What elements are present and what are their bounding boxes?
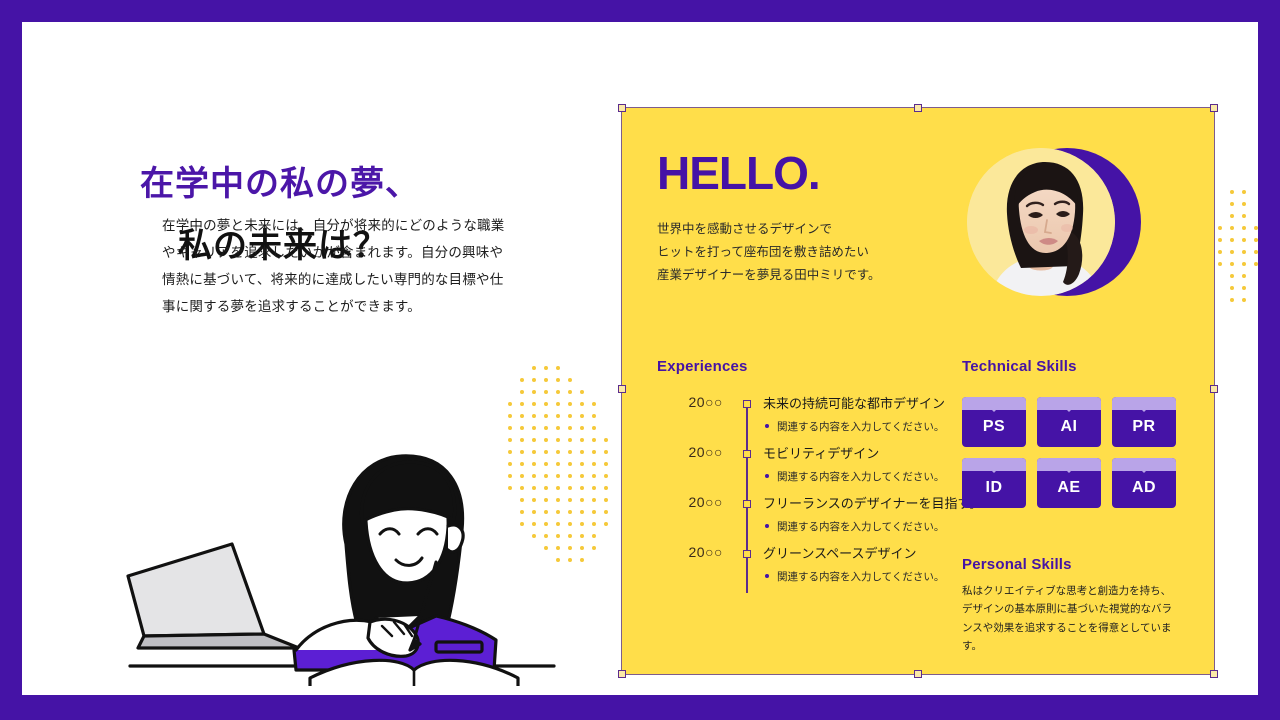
dot (1218, 214, 1222, 218)
dot (568, 462, 572, 466)
dot (556, 378, 560, 382)
skill-tile-label: PR (1132, 418, 1155, 436)
dot (568, 366, 572, 370)
dot (1230, 286, 1234, 290)
dot-grid-row (1218, 226, 1258, 238)
dot (1218, 298, 1222, 302)
dot (1254, 178, 1258, 182)
dot (580, 546, 584, 550)
dot (592, 390, 596, 394)
timeline-item[interactable]: 20○○ 未来の持続可能な都市デザイン 関連する内容を入力してください。 (657, 397, 937, 447)
dot-grid-row (1218, 274, 1258, 286)
dot (604, 402, 608, 406)
skill-tile-ad[interactable]: AD (1112, 458, 1176, 508)
personal-skills-title: Personal Skills (962, 556, 1177, 573)
dot (604, 534, 608, 538)
dot-grid-row (1218, 238, 1258, 250)
slide-frame: 在学中の私の夢、 私の未来は？ 在学中の夢と未来には、自分が将来的にどのような職… (0, 0, 1280, 720)
dot (1230, 262, 1234, 266)
dot (1218, 250, 1222, 254)
dot (508, 414, 512, 418)
dot (604, 378, 608, 382)
dot (1218, 190, 1222, 194)
dot (568, 486, 572, 490)
dot (592, 510, 596, 514)
dot-grid-row (1218, 202, 1258, 214)
dot-grid-row (1218, 262, 1258, 274)
dot (604, 450, 608, 454)
dot (592, 378, 596, 382)
student-illustration[interactable] (114, 426, 564, 686)
dot (604, 462, 608, 466)
dot (1254, 310, 1258, 314)
dot (544, 390, 548, 394)
timeline-bullet: 関連する内容を入力してください。 (763, 519, 973, 534)
resize-handle-bottom-right[interactable] (1210, 670, 1218, 678)
dot (1242, 178, 1246, 182)
skill-tile-ai[interactable]: AI (1037, 397, 1101, 447)
dot (580, 498, 584, 502)
portrait[interactable] (959, 140, 1149, 340)
skill-tile-notch-icon (1140, 469, 1148, 473)
dot (580, 462, 584, 466)
dot (568, 402, 572, 406)
dot (580, 426, 584, 430)
resize-handle-bottom-center[interactable] (914, 670, 922, 678)
dot (544, 414, 548, 418)
dot (1242, 238, 1246, 242)
skill-tile-label: ID (986, 479, 1003, 497)
dot (604, 546, 608, 550)
dot (568, 510, 572, 514)
dot (604, 486, 608, 490)
dot (568, 474, 572, 478)
timeline-item[interactable]: 20○○ モビリティデザイン 関連する内容を入力してください。 (657, 447, 937, 497)
dot (568, 558, 572, 562)
dot (1230, 298, 1234, 302)
skill-tile-ae[interactable]: AE (1037, 458, 1101, 508)
technical-skills-section[interactable]: Technical Skills PS AI (962, 358, 1182, 508)
dot (1242, 262, 1246, 266)
dot (604, 438, 608, 442)
dot-grid-row (508, 366, 616, 378)
dot (604, 414, 608, 418)
dot (580, 510, 584, 514)
timeline-body: グリーンスペースデザイン 関連する内容を入力してください。 (763, 543, 973, 584)
dot (592, 426, 596, 430)
dot (604, 522, 608, 526)
dot (592, 546, 596, 550)
dot (1218, 286, 1222, 290)
hello-title: HELLO. (657, 150, 881, 196)
dot-grid-row (1218, 214, 1258, 226)
hello-block[interactable]: HELLO. 世界中を感動させるデザインで ヒットを打って座布団を敷き詰めたい … (657, 150, 881, 287)
dot (1242, 250, 1246, 254)
dot (580, 486, 584, 490)
lead-paragraph: 在学中の夢と未来には、自分が将来的にどのような職業やキャリアを追求したいかが含ま… (162, 212, 512, 320)
dot (592, 366, 596, 370)
dot (1254, 298, 1258, 302)
dot (568, 450, 572, 454)
dot (556, 390, 560, 394)
technical-skills-tiles[interactable]: PS AI PR (962, 397, 1182, 508)
dot (568, 426, 572, 430)
dot (508, 402, 512, 406)
resume-card-selection[interactable]: HELLO. 世界中を感動させるデザインで ヒットを打って座布団を敷き詰めたい … (622, 108, 1214, 674)
dot (532, 366, 536, 370)
dot-grid-row (508, 414, 616, 426)
dot (1218, 238, 1222, 242)
student-illustration-svg (114, 426, 564, 686)
dot (1230, 250, 1234, 254)
dot (1254, 262, 1258, 266)
dot (568, 378, 572, 382)
personal-skills-body: 私はクリエイティブな思考と創造力を持ち、デザインの基本原則に基づいた視覚的なバラ… (962, 582, 1177, 656)
portrait-photo-disc (967, 148, 1115, 296)
dot (592, 462, 596, 466)
skill-tile-label: AI (1061, 418, 1078, 436)
dot (604, 426, 608, 430)
skill-tile-notch-icon (1065, 469, 1073, 473)
dot (592, 438, 596, 442)
skill-tile-label: PS (983, 418, 1005, 436)
timeline-year: 20○○ (653, 544, 723, 560)
timeline-marker-icon (743, 550, 751, 558)
timeline-headline: フリーランスのデザイナーを目指す。 (763, 493, 973, 512)
timeline-headline: 未来の持続可能な都市デザイン (763, 393, 973, 412)
dot (580, 378, 584, 382)
dot (520, 390, 524, 394)
dot (580, 438, 584, 442)
dot (1230, 274, 1234, 278)
timeline-marker-icon (743, 400, 751, 408)
dot (604, 510, 608, 514)
skill-tile-notch-icon (1065, 408, 1073, 412)
timeline-body: 未来の持続可能な都市デザイン 関連する内容を入力してください。 (763, 393, 973, 434)
dot (532, 390, 536, 394)
dot (544, 378, 548, 382)
portrait-photo (967, 148, 1115, 296)
experiences-title: Experiences (657, 358, 937, 375)
dot (592, 534, 596, 538)
dot (1242, 226, 1246, 230)
timeline-bullet: 関連する内容を入力してください。 (763, 569, 973, 584)
dot (1218, 226, 1222, 230)
resize-handle-middle-left[interactable] (618, 385, 626, 393)
skill-tile-notch-icon (1140, 408, 1148, 412)
dot (532, 402, 536, 406)
dot (532, 378, 536, 382)
dot (1254, 286, 1258, 290)
dot (592, 558, 596, 562)
dot (580, 522, 584, 526)
dot-grid-row (1218, 250, 1258, 262)
dot (568, 438, 572, 442)
technical-skills-title: Technical Skills (962, 358, 1182, 375)
dot-grid-row (508, 378, 616, 390)
dot (604, 366, 608, 370)
slide-canvas[interactable]: 在学中の私の夢、 私の未来は？ 在学中の夢と未来には、自分が将来的にどのような職… (22, 22, 1258, 695)
timeline-item[interactable]: 20○○ フリーランスのデザイナーを目指す。 関連する内容を入力してください。 (657, 497, 937, 547)
dot (580, 414, 584, 418)
dot (544, 366, 548, 370)
dot (568, 534, 572, 538)
skill-tile-id[interactable]: ID (962, 458, 1026, 508)
dot (1242, 286, 1246, 290)
dot (1254, 238, 1258, 242)
dot (1242, 214, 1246, 218)
dot (1230, 226, 1234, 230)
dot (1218, 310, 1222, 314)
dot (1254, 202, 1258, 206)
dot (556, 414, 560, 418)
dot (592, 414, 596, 418)
resume-card-panel[interactable]: HELLO. 世界中を感動させるデザインで ヒットを打って座布団を敷き詰めたい … (622, 108, 1214, 674)
dot-grid-row (1218, 286, 1258, 298)
dot-grid-row (508, 402, 616, 414)
dot (568, 546, 572, 550)
dot (1218, 262, 1222, 266)
timeline-body: フリーランスのデザイナーを目指す。 関連する内容を入力してください。 (763, 493, 973, 534)
dot (592, 498, 596, 502)
timeline-marker-icon (743, 450, 751, 458)
dot (580, 534, 584, 538)
dot (1242, 310, 1246, 314)
dot-grid-row (1218, 190, 1258, 202)
dot (1230, 178, 1234, 182)
dot (568, 414, 572, 418)
dot (580, 450, 584, 454)
hello-subtitle: 世界中を感動させるデザインで ヒットを打って座布団を敷き詰めたい 産業デザイナー… (657, 218, 881, 287)
dot (1230, 202, 1234, 206)
dot (604, 558, 608, 562)
dot (1254, 214, 1258, 218)
dot (604, 390, 608, 394)
dot (520, 378, 524, 382)
skill-tile-notch-icon (990, 469, 998, 473)
skill-tile-label: AE (1057, 479, 1080, 497)
page-title-line-1: 在学中の私の夢、 (140, 162, 540, 208)
dot (580, 390, 584, 394)
dot (580, 558, 584, 562)
dot (568, 522, 572, 526)
dot (1230, 238, 1234, 242)
personal-skills-section[interactable]: Personal Skills 私はクリエイティブな思考と創造力を持ち、デザイン… (962, 556, 1177, 656)
resize-handle-top-center[interactable] (914, 104, 922, 112)
dot (1242, 190, 1246, 194)
dot (592, 474, 596, 478)
dot (1254, 226, 1258, 230)
dot (580, 474, 584, 478)
dot (544, 402, 548, 406)
resize-handle-top-left[interactable] (618, 104, 626, 112)
timeline-bullet: 関連する内容を入力してください。 (763, 469, 973, 484)
resize-handle-top-right[interactable] (1210, 104, 1218, 112)
dot (520, 414, 524, 418)
dot (1218, 274, 1222, 278)
dot (568, 498, 572, 502)
resize-handle-middle-right[interactable] (1210, 385, 1218, 393)
dot (1218, 178, 1222, 182)
skill-tile-label: AD (1132, 479, 1156, 497)
dot (1218, 202, 1222, 206)
dot-grid-row (1218, 178, 1258, 190)
dot (592, 522, 596, 526)
experiences-timeline[interactable]: 20○○ 未来の持続可能な都市デザイン 関連する内容を入力してください。 20○… (657, 397, 937, 597)
resize-handle-bottom-left[interactable] (618, 670, 626, 678)
timeline-marker-icon (743, 500, 751, 508)
skill-tile-ps[interactable]: PS (962, 397, 1026, 447)
timeline-year: 20○○ (653, 394, 723, 410)
dot (508, 366, 512, 370)
dot (592, 486, 596, 490)
dot (592, 402, 596, 406)
timeline-year: 20○○ (653, 444, 723, 460)
dot (556, 366, 560, 370)
experiences-section[interactable]: Experiences 20○○ 未来の持続可能な都市デザイン 関連する内容を入… (657, 358, 937, 597)
dot (1242, 202, 1246, 206)
dot (1242, 274, 1246, 278)
dot-grid-row (1218, 310, 1258, 322)
skill-tile-notch-icon (990, 408, 998, 412)
dot (1254, 250, 1258, 254)
dot (508, 390, 512, 394)
dot (604, 474, 608, 478)
dot (580, 366, 584, 370)
dot-grid-row (508, 390, 616, 402)
timeline-bullet: 関連する内容を入力してください。 (763, 419, 973, 434)
dot (1230, 310, 1234, 314)
timeline-year: 20○○ (653, 494, 723, 510)
timeline-body: モビリティデザイン 関連する内容を入力してください。 (763, 443, 973, 484)
timeline-headline: モビリティデザイン (763, 443, 973, 462)
timeline-item[interactable]: 20○○ グリーンスペースデザイン 関連する内容を入力してください。 (657, 547, 937, 597)
skill-tile-pr[interactable]: PR (1112, 397, 1176, 447)
dot (532, 414, 536, 418)
dot-grid-row (1218, 298, 1258, 310)
dot (556, 402, 560, 406)
dot (580, 402, 584, 406)
timeline-headline: グリーンスペースデザイン (763, 543, 973, 562)
dot (1242, 298, 1246, 302)
dot (568, 390, 572, 394)
dot-grid-right-decoration (1218, 178, 1258, 322)
dot (520, 366, 524, 370)
dot (1254, 190, 1258, 194)
dot (592, 450, 596, 454)
dot (604, 498, 608, 502)
dot (520, 402, 524, 406)
dot (1230, 190, 1234, 194)
dot (1254, 274, 1258, 278)
dot (1230, 214, 1234, 218)
dot (508, 378, 512, 382)
